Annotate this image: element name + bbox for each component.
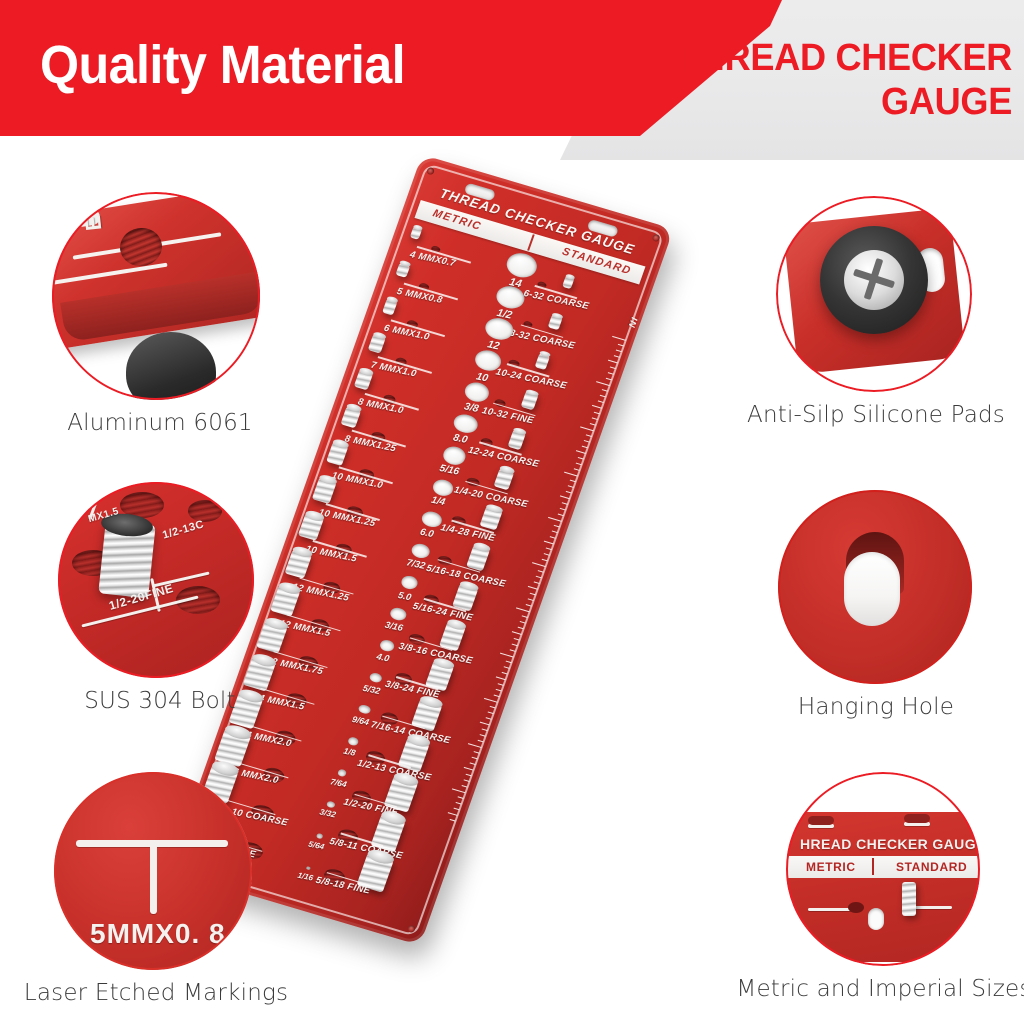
ruler-tick xyxy=(486,717,492,720)
ruler-tick xyxy=(496,689,502,692)
etched-letter: E xyxy=(80,214,107,232)
etch-standard-label: STANDARD xyxy=(896,860,967,874)
ruler-tick xyxy=(506,661,512,664)
callout-metric-and-imperial-sizes: HREAD CHECKER GAUG METRIC STANDARD Metri… xyxy=(786,772,982,1022)
ruler-tick xyxy=(574,468,580,471)
callout-caption-aluminum-6061: Aluminum 6061 xyxy=(67,410,253,436)
ruler-tick xyxy=(502,672,508,675)
ruler-tick xyxy=(568,485,574,488)
callout-laser-etched-image: 5MMX0. 8 xyxy=(54,772,252,970)
ruler-tick xyxy=(576,463,582,466)
ruler-tick xyxy=(530,593,536,596)
hanging-hole-slot xyxy=(844,552,900,626)
ruler-tick xyxy=(526,604,532,607)
ruler-tick xyxy=(610,366,616,369)
callout-caption-hanging-hole: Hanging Hole xyxy=(798,694,954,720)
page-title-quality-material: Quality Material xyxy=(40,34,561,96)
threaded-hole-top-right xyxy=(188,500,222,522)
ruler-tick xyxy=(578,457,584,460)
product-name-line2: GAUGE xyxy=(621,80,1012,124)
ruler-tick xyxy=(546,547,552,550)
ruler-tick xyxy=(512,631,522,635)
etch-metric-label: METRIC xyxy=(806,860,856,874)
callout-laser-etched-markings: 5MMX0. 8 Laser Etched Markings xyxy=(54,772,258,1022)
product-marketing-image: Quality Material THREAD CHECKER GAUGE TH… xyxy=(0,0,1024,1024)
callout-sus-304-bolt-image: MX1.5 1/2-13C 1/2-20FINE xyxy=(58,482,254,678)
ruler-tick xyxy=(608,360,618,364)
ruler-tick xyxy=(584,440,590,443)
ruler-tick xyxy=(602,389,608,392)
etch-plate-title: HREAD CHECKER GAUG xyxy=(800,836,976,852)
ruler-tick xyxy=(618,344,624,347)
callout-caption-anti-slip-silicone-pads: Anti-Silp Silicone Pads xyxy=(747,402,1005,428)
ruler-tick xyxy=(566,491,572,494)
product-name-title: THREAD CHECKER GAUGE xyxy=(621,36,1012,124)
ruler-tick xyxy=(596,381,610,386)
ruler-tick xyxy=(474,751,480,754)
ruler-tick xyxy=(448,812,458,816)
ruler-tick xyxy=(500,653,514,658)
ruler-tick xyxy=(544,541,554,545)
callout-caption-sus-304-bolt: SUS 304 Bolt xyxy=(84,688,236,714)
callout-silicone-pad-image xyxy=(776,196,972,392)
ruler-tick xyxy=(528,586,538,590)
ruler-tick xyxy=(592,417,598,420)
ruler-tick xyxy=(522,615,528,618)
ruler-tick xyxy=(590,423,596,426)
ruler-tick xyxy=(552,530,558,533)
ruler-tick xyxy=(544,553,550,556)
ruler-tick xyxy=(548,517,562,522)
ruler-tick xyxy=(464,779,470,782)
ruler-tick xyxy=(564,472,578,477)
ruler-tick xyxy=(542,559,548,562)
ruler-tick xyxy=(534,581,540,584)
callout-hanging-hole-image xyxy=(778,490,972,684)
ruler-tick xyxy=(480,722,490,726)
ruler-tick xyxy=(520,621,526,624)
ruler-tick xyxy=(586,434,592,437)
ruler-tick xyxy=(470,762,476,765)
ruler-tick xyxy=(562,502,568,505)
ruler-tick xyxy=(464,767,474,771)
ruler-tick xyxy=(466,774,472,777)
ruler-tick xyxy=(504,666,510,669)
ruler-tick xyxy=(616,350,622,353)
ruler-tick xyxy=(532,562,546,567)
ruler-tick xyxy=(518,627,524,630)
etch-label-5mmx08: 5MMX0. 8 xyxy=(90,918,226,950)
silicone-pad-underside xyxy=(126,332,216,400)
ruler-tick xyxy=(472,757,478,760)
callout-hanging-hole: Hanging Hole xyxy=(778,490,974,740)
ruler-tick xyxy=(516,607,530,612)
ruler-tick xyxy=(480,734,486,737)
sample-bolt xyxy=(902,882,916,916)
ruler-tick xyxy=(514,638,520,641)
ruler-tick xyxy=(449,819,455,822)
ruler-tick xyxy=(484,698,498,703)
ruler-tick xyxy=(536,576,542,579)
product-name-line1: THREAD CHECKER xyxy=(677,37,1012,79)
callout-caption-metric-and-imperial-sizes: Metric and Imperial Sizes xyxy=(736,976,1024,1002)
callout-caption-laser-etched-markings: Laser Etched Markings xyxy=(24,980,288,1006)
column-divider xyxy=(872,858,874,875)
ruler-tick xyxy=(452,788,466,793)
ruler-tick xyxy=(478,740,484,743)
ruler-tick xyxy=(453,808,459,811)
ruler-tick xyxy=(457,796,463,799)
ruler-tick xyxy=(608,372,614,375)
callout-aluminum-6061-image: E xyxy=(52,192,260,400)
ruler-tick xyxy=(598,400,604,403)
ruler-tick xyxy=(550,536,556,539)
ruler-tick xyxy=(462,785,468,788)
plate-surface xyxy=(786,812,980,962)
ruler-tick xyxy=(528,598,534,601)
ruler-tick xyxy=(488,711,494,714)
ruler-tick xyxy=(580,426,594,431)
ruler-tick xyxy=(576,450,586,454)
ruler-tick xyxy=(582,446,588,449)
ruler-tick xyxy=(496,676,506,680)
ruler-tick xyxy=(614,355,620,358)
header-banner: Quality Material THREAD CHECKER GAUGE xyxy=(0,0,1024,168)
ruler-tick xyxy=(560,495,570,499)
ruler-tick xyxy=(594,412,600,415)
ruler-tick xyxy=(512,644,518,647)
etch-tee-stem xyxy=(150,842,157,914)
ruler-tick xyxy=(538,570,544,573)
ruler-tick xyxy=(570,480,576,483)
callout-anti-slip-silicone-pads: Anti-Silp Silicone Pads xyxy=(776,196,976,446)
ruler-tick xyxy=(600,395,606,398)
ruler-tick xyxy=(490,706,496,709)
ruler-tick xyxy=(494,695,500,698)
ruler-tick xyxy=(498,683,504,686)
ruler-tick xyxy=(455,802,461,805)
callout-aluminum-6061: E Aluminum 6061 xyxy=(52,192,268,442)
ruler-tick xyxy=(606,378,612,381)
ruler-tick xyxy=(554,525,560,528)
ruler-tick xyxy=(482,728,488,731)
ruler-tick xyxy=(468,743,482,748)
ruler-unit-label: IN xyxy=(626,316,639,329)
ruler-tick xyxy=(510,649,516,652)
callout-sus-304-bolt: MX1.5 1/2-13C 1/2-20FINE SUS 304 Bolt xyxy=(58,482,262,732)
ruler-tick xyxy=(592,405,602,409)
product-photo-thread-checker-gauge: THREAD CHECKER GAUGE METRIC STANDARD IN … xyxy=(200,150,840,980)
ruler-tick xyxy=(560,508,566,511)
callout-metric-imperial-image: HREAD CHECKER GAUG METRIC STANDARD xyxy=(786,772,980,966)
ruler-tick xyxy=(558,514,564,517)
